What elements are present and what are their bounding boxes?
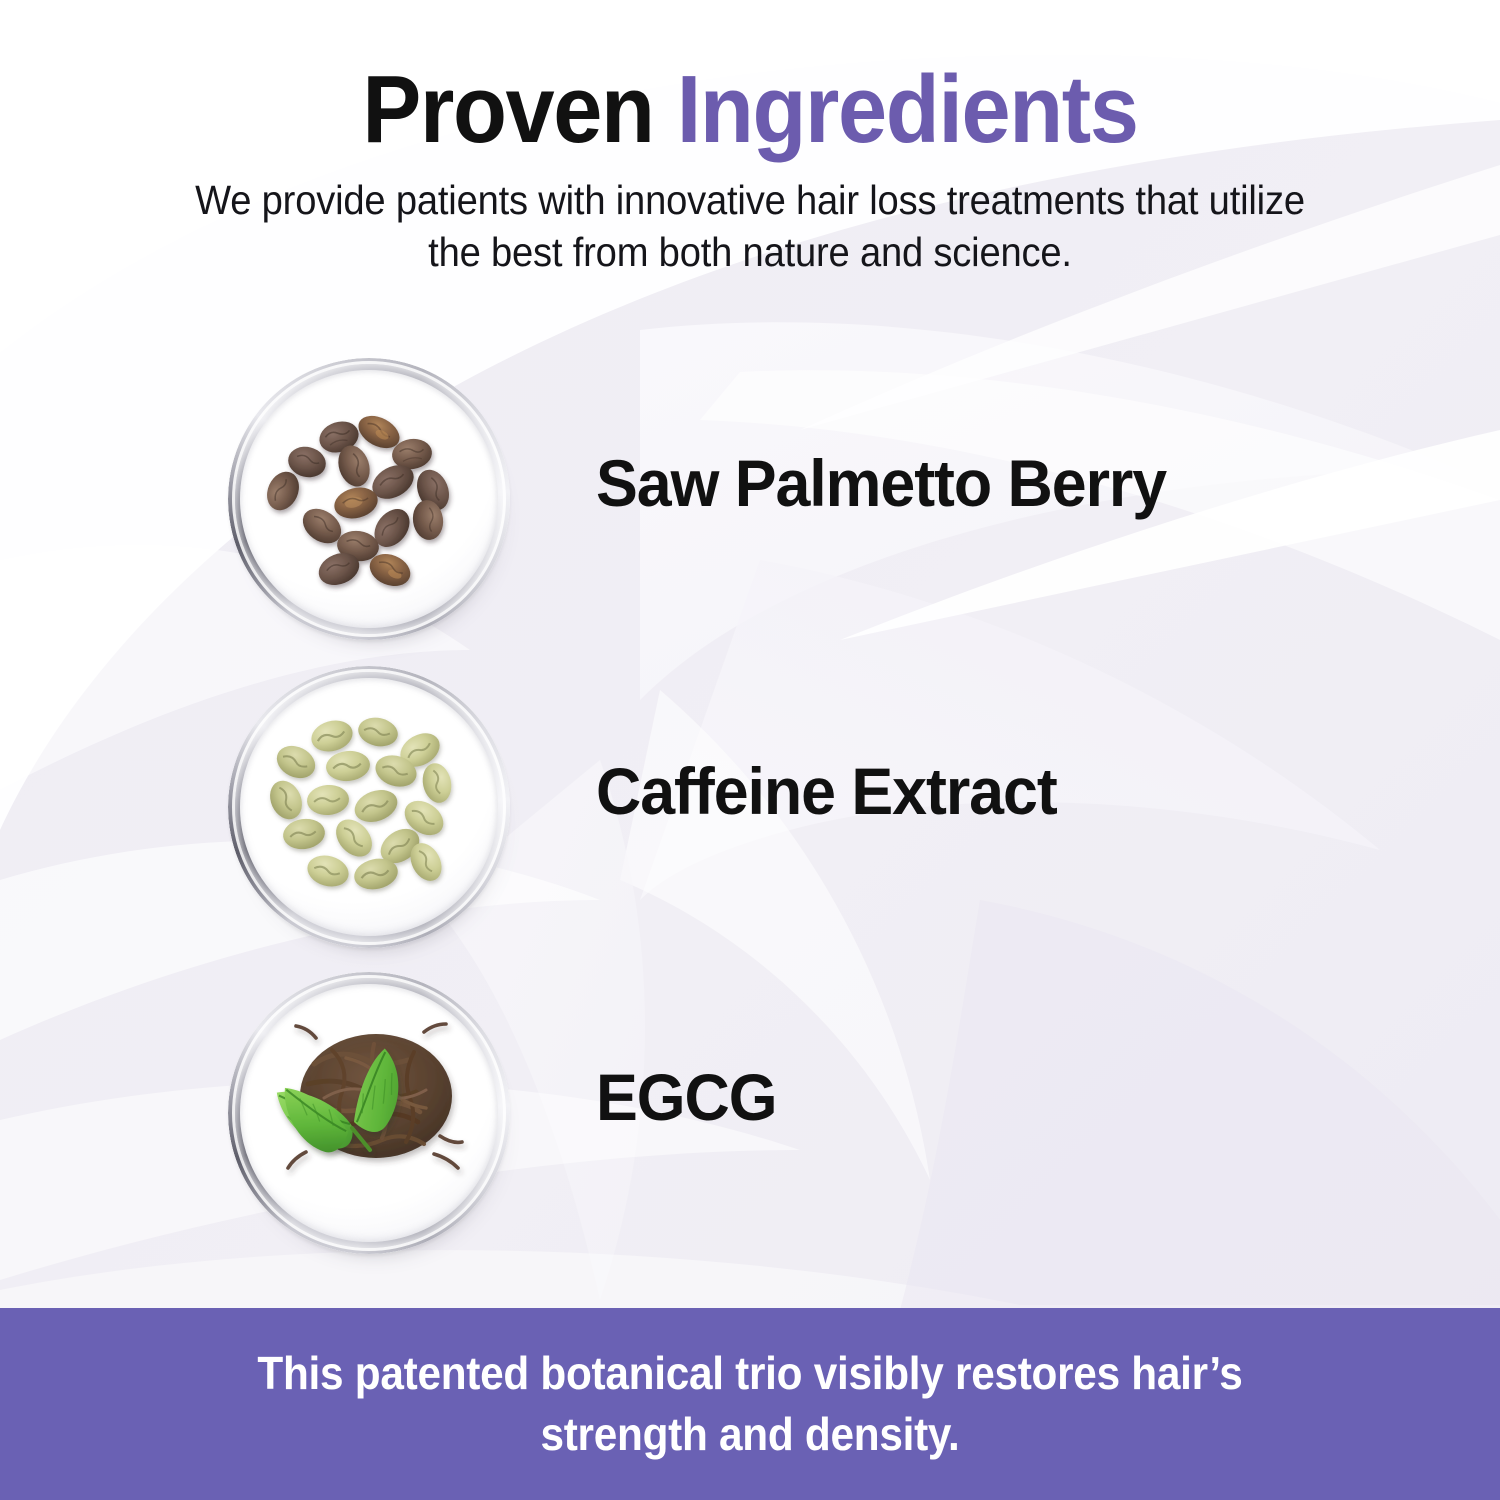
page-title-part-2: Ingredients xyxy=(677,56,1138,163)
beans-svg xyxy=(228,666,510,948)
page-title-part-1: Proven xyxy=(362,56,653,163)
banner-text: This patented botanical trio visibly res… xyxy=(175,1343,1325,1464)
petri-dish-saw-palmetto-berries xyxy=(228,358,512,650)
ingredient-row-caffeine-extract: Caffeine Extract xyxy=(0,666,1500,966)
berries-svg xyxy=(228,358,510,640)
ingredient-label-egcg: EGCG xyxy=(596,1064,776,1130)
ingredient-label-saw-palmetto-berry: Saw Palmetto Berry xyxy=(596,450,1166,516)
ingredient-row-saw-palmetto-berry: Saw Palmetto Berry xyxy=(0,358,1500,658)
page-title: Proven Ingredients xyxy=(60,0,1440,160)
dish-glass xyxy=(228,358,510,640)
bottom-banner: This patented botanical trio visibly res… xyxy=(0,1308,1500,1500)
infographic-canvas: Proven Ingredients We provide patients w… xyxy=(0,0,1500,1500)
petri-dish-tea-leaves xyxy=(228,972,512,1264)
header: Proven Ingredients We provide patients w… xyxy=(0,0,1500,279)
tea-svg xyxy=(228,972,510,1254)
ingredient-label-caffeine-extract: Caffeine Extract xyxy=(596,758,1057,824)
page-subtitle: We provide patients with innovative hair… xyxy=(183,174,1318,279)
ingredient-row-egcg: EGCG xyxy=(0,972,1500,1272)
dish-glass xyxy=(228,666,510,948)
petri-dish-green-coffee-beans xyxy=(228,666,512,958)
green-coffee-beans-icon xyxy=(228,666,510,948)
dish-glass xyxy=(228,972,510,1254)
tea-leaves-icon xyxy=(228,972,510,1254)
saw-palmetto-berries-icon xyxy=(228,358,510,640)
